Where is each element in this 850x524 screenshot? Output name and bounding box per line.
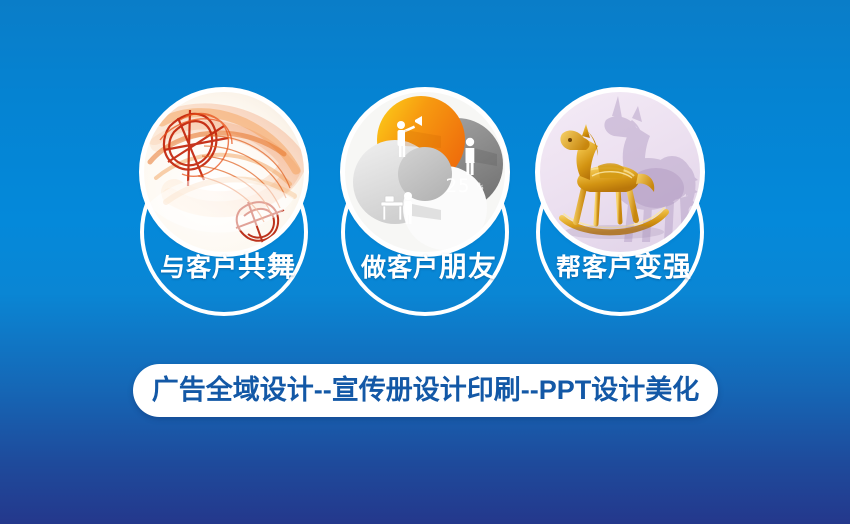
svg-text:25: 25 — [446, 175, 471, 197]
bottom-banner-text: 广告全域设计--宣传册设计印刷--PPT设计美化 — [133, 364, 718, 417]
svg-text:%: % — [477, 180, 484, 193]
feature-card-dance-with-customer[interactable]: 与客户共舞 — [140, 92, 316, 324]
feature-image-orange-smoke-swirl-artwork — [144, 92, 304, 252]
bottom-banner-pill[interactable]: 广告全域设计--宣传册设计印刷--PPT设计美化 — [133, 364, 718, 417]
feature-label: 帮客户变强 — [536, 252, 712, 283]
feature-card-be-customer-friend[interactable]: 25 % 做客户朋友 — [341, 92, 517, 324]
feature-card-make-customer-stronger[interactable]: 帮客户变强 — [536, 92, 712, 324]
feature-image-golden-rocking-horse-with-unicorn-shadow — [540, 92, 700, 252]
feature-label-lead: 与客户 — [160, 254, 238, 282]
feature-label-lead: 帮客户 — [556, 254, 634, 282]
feature-label-emph: 朋友 — [439, 251, 497, 282]
feature-label-lead: 做客户 — [361, 254, 439, 282]
feature-label: 与客户共舞 — [140, 252, 316, 283]
feature-label-emph: 变强 — [634, 251, 692, 282]
feature-label: 做客户朋友 — [341, 252, 517, 283]
feature-image-infographic-pie-people-chart: 25 % — [345, 92, 505, 252]
feature-label-emph: 共舞 — [238, 251, 296, 282]
poster-canvas: 与客户共舞 — [0, 0, 850, 524]
